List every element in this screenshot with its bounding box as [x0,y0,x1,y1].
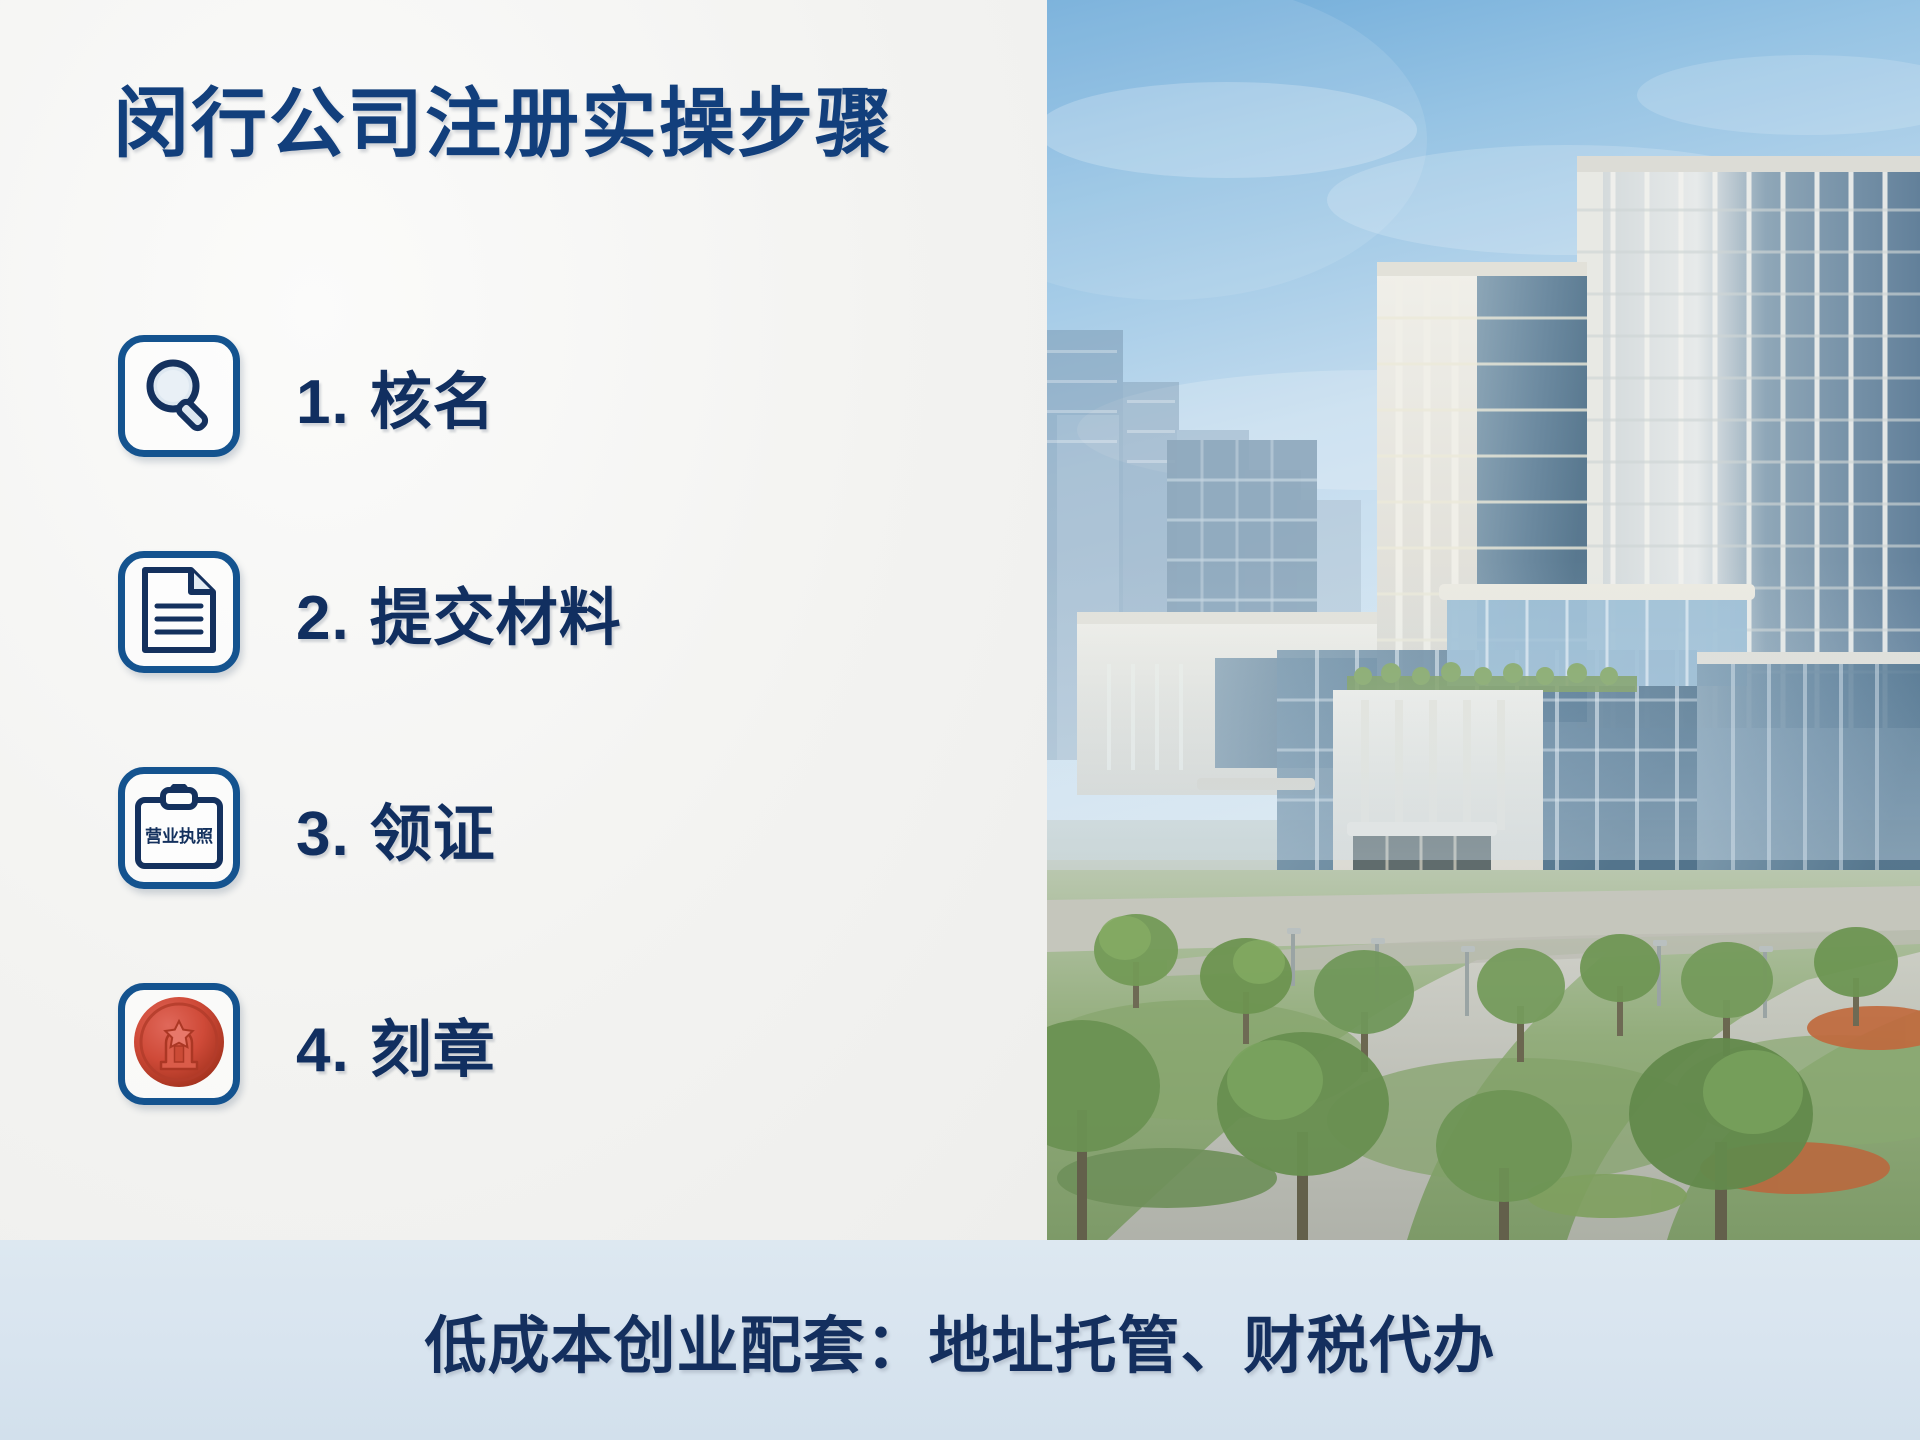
bottom-banner: 低成本创业配套：地址托管、财税代办 [0,1240,1920,1440]
step-text: 刻章 [370,1016,496,1085]
business-license-clipboard-icon: 营业执照 [132,784,226,872]
left-content-panel: 闵行公司注册实操步骤 1.核名 [0,0,1047,1240]
license-caption: 营业执照 [132,822,226,847]
list-item-label: 1.核名 [296,351,496,441]
office-park-photo [1047,0,1920,1240]
page-title: 闵行公司注册实操步骤 [113,62,893,172]
step-number: 3. [296,800,350,869]
list-item[interactable]: 2.提交材料 [118,546,978,678]
step-text: 提交材料 [370,584,622,653]
step-icon-box [118,983,240,1105]
office-park-illustration [1047,0,1920,1240]
red-seal-stamp-icon [130,993,228,1096]
banner-text: 低成本创业配套：地址托管、财税代办 [424,1295,1495,1385]
steps-list: 1.核名 2.提交 [118,330,978,1110]
step-text: 核名 [370,368,496,437]
document-icon [135,564,223,661]
step-text: 领证 [370,800,496,869]
magnifier-icon [133,348,225,445]
list-item[interactable]: 1.核名 [118,330,978,462]
slide-root: 闵行公司注册实操步骤 1.核名 [0,0,1920,1440]
list-item-label: 4.刻章 [296,999,496,1089]
list-item[interactable]: 4.刻章 [118,978,978,1110]
step-icon-box [118,335,240,457]
step-number: 2. [296,584,350,653]
step-icon-box [118,551,240,673]
list-item[interactable]: 营业执照 3.领证 [118,762,978,894]
step-icon-box: 营业执照 [118,767,240,889]
list-item-label: 2.提交材料 [296,567,622,657]
step-number: 1. [296,368,350,437]
list-item-label: 3.领证 [296,783,496,873]
step-number: 4. [296,1016,350,1085]
